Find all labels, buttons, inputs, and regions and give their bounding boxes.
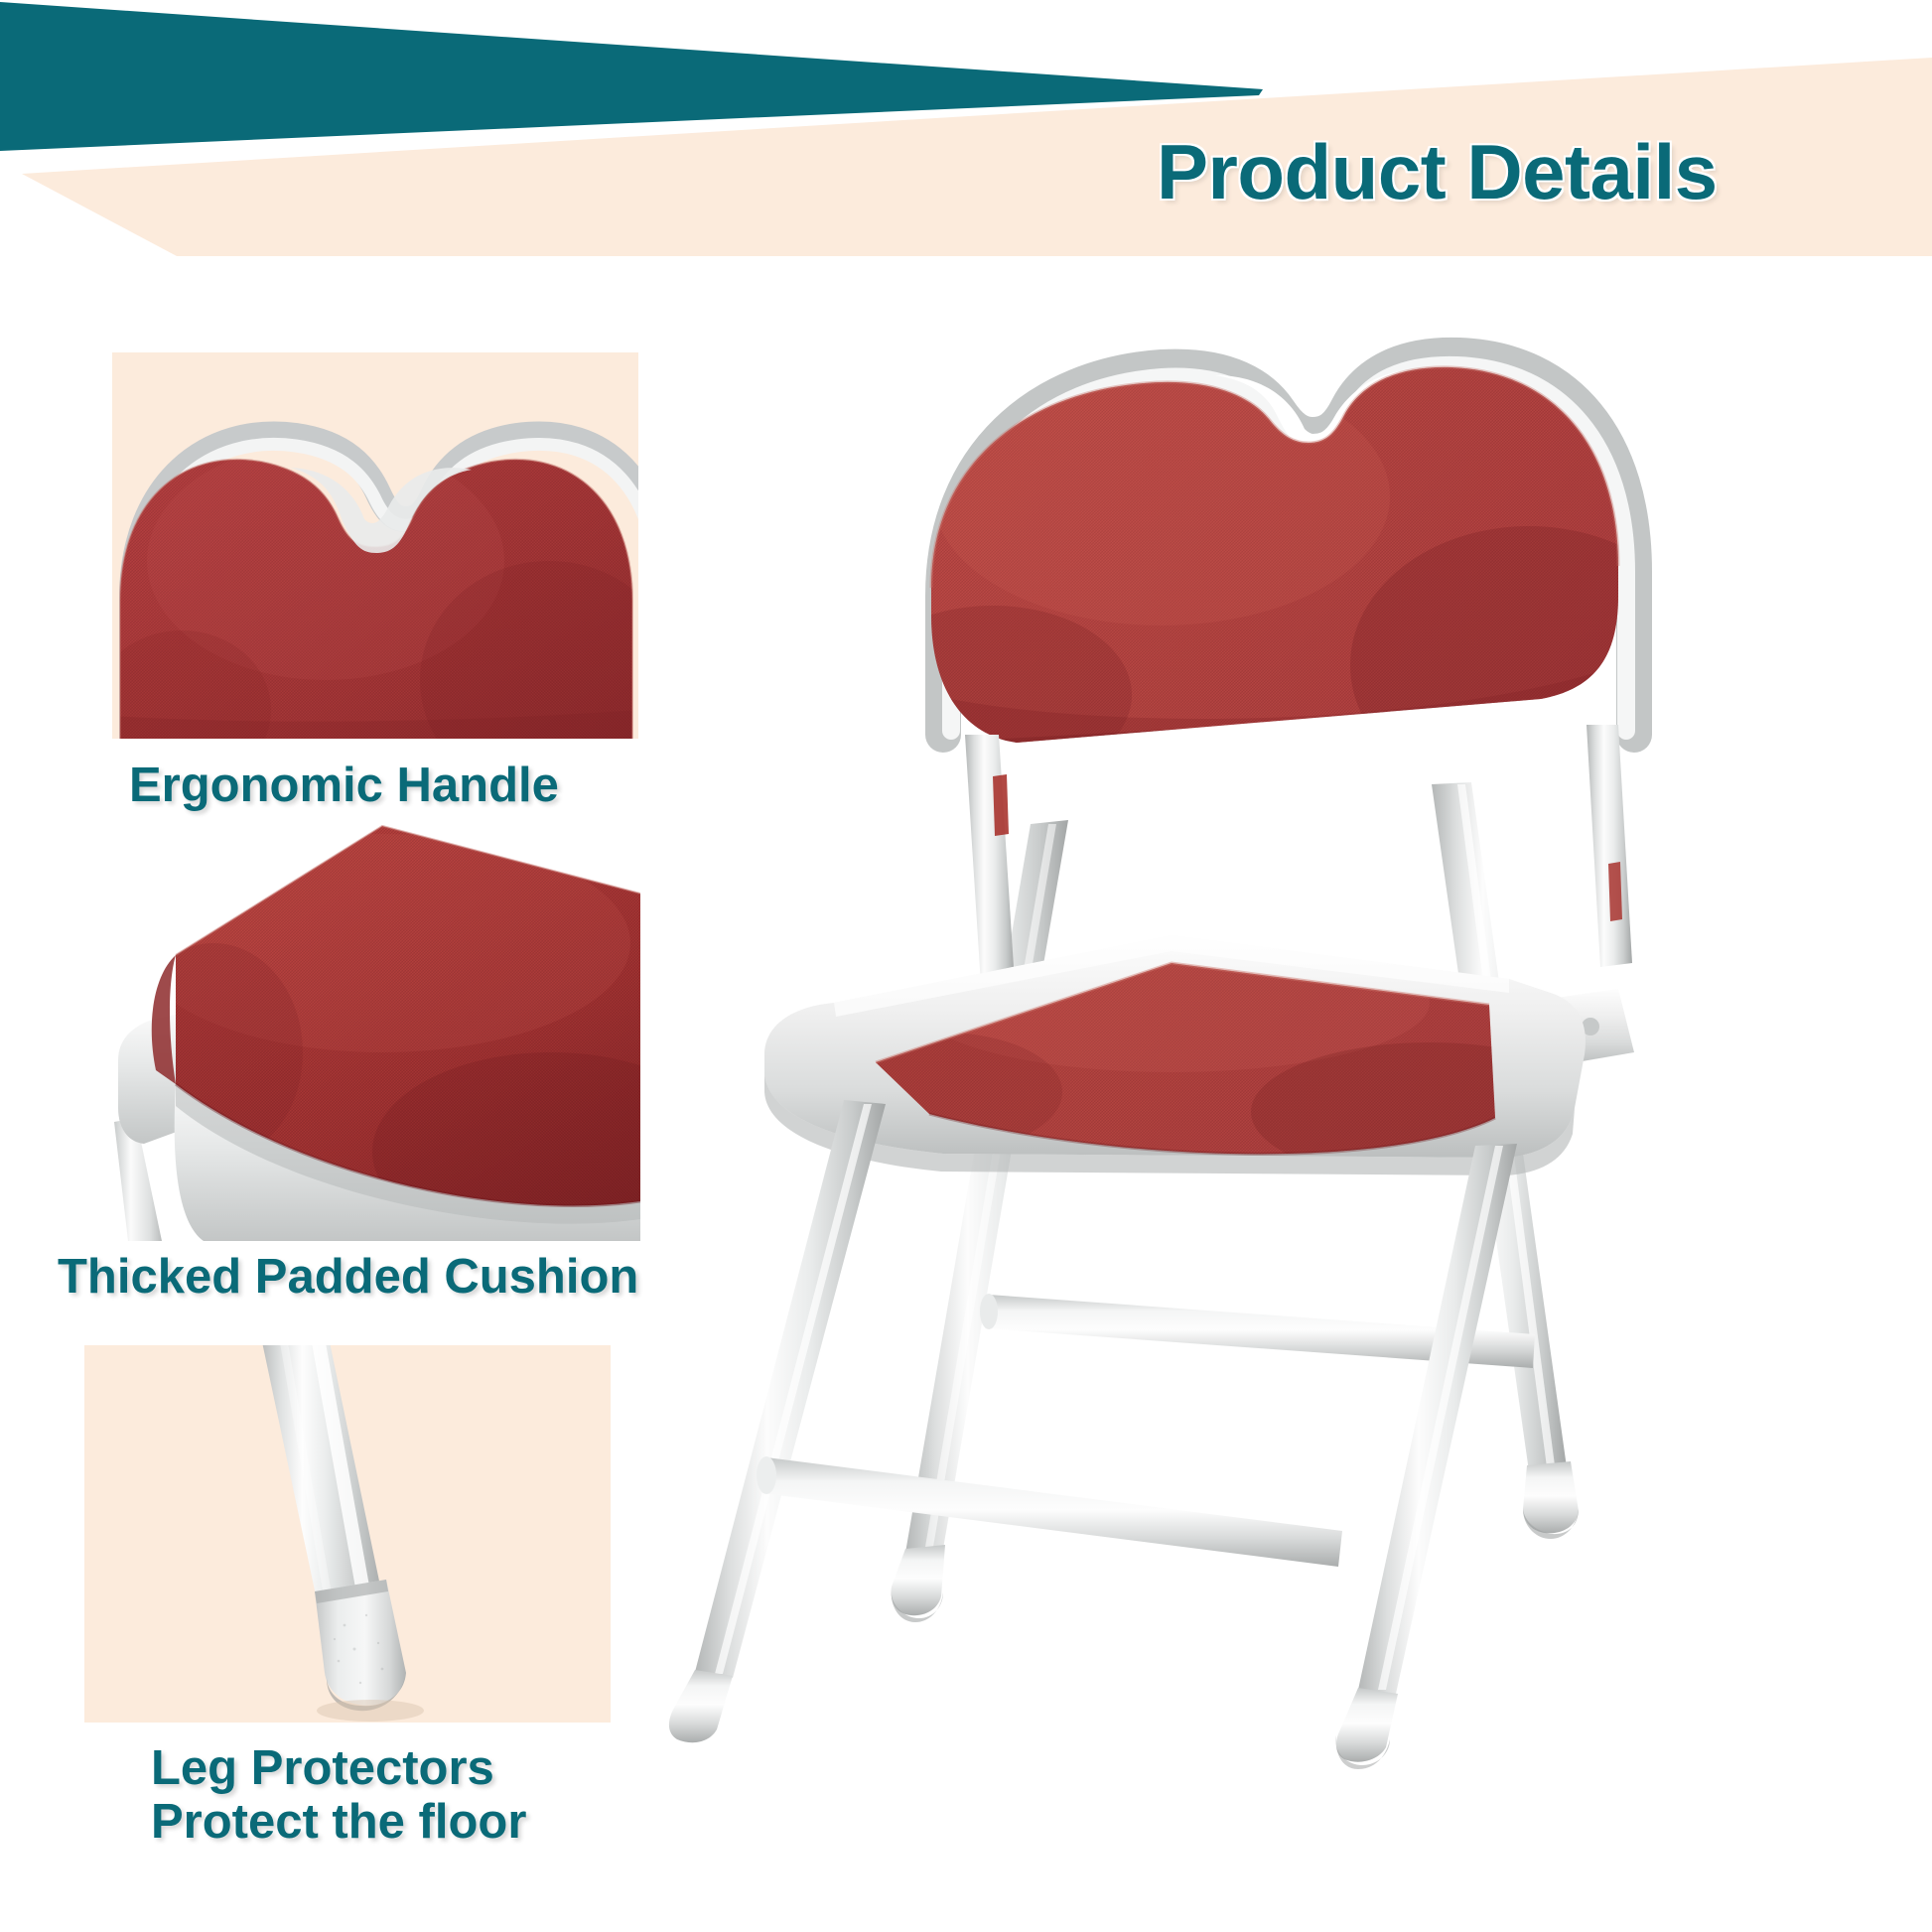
detail-caption-handle: Ergonomic Handle bbox=[129, 759, 559, 813]
detail-image-cushion bbox=[84, 824, 640, 1241]
seat-cushion-closeup bbox=[84, 824, 640, 1241]
hero-product-image bbox=[695, 268, 1932, 1757]
folding-chair-product-shot bbox=[695, 268, 1932, 1757]
detail-caption-cushion: Thicked Padded Cushion bbox=[58, 1251, 638, 1305]
detail-image-legs bbox=[84, 1345, 611, 1723]
detail-caption-legs-line2: Protect the floor bbox=[151, 1796, 526, 1850]
header-banner: Product Details bbox=[0, 0, 1932, 298]
detail-callout-column: Ergonomic Handle bbox=[0, 298, 755, 1932]
chair-back-handle-closeup bbox=[112, 352, 638, 739]
detail-caption-legs-line1: Leg Protectors bbox=[151, 1742, 526, 1796]
page-title: Product Details bbox=[1157, 127, 1718, 217]
hinge-marker-left bbox=[993, 774, 1009, 836]
detail-caption-legs: Leg Protectors Protect the floor bbox=[151, 1742, 526, 1850]
hinge-marker-right bbox=[1608, 862, 1622, 921]
leg-protector-cap-closeup bbox=[84, 1345, 611, 1723]
detail-image-handle bbox=[112, 352, 638, 739]
